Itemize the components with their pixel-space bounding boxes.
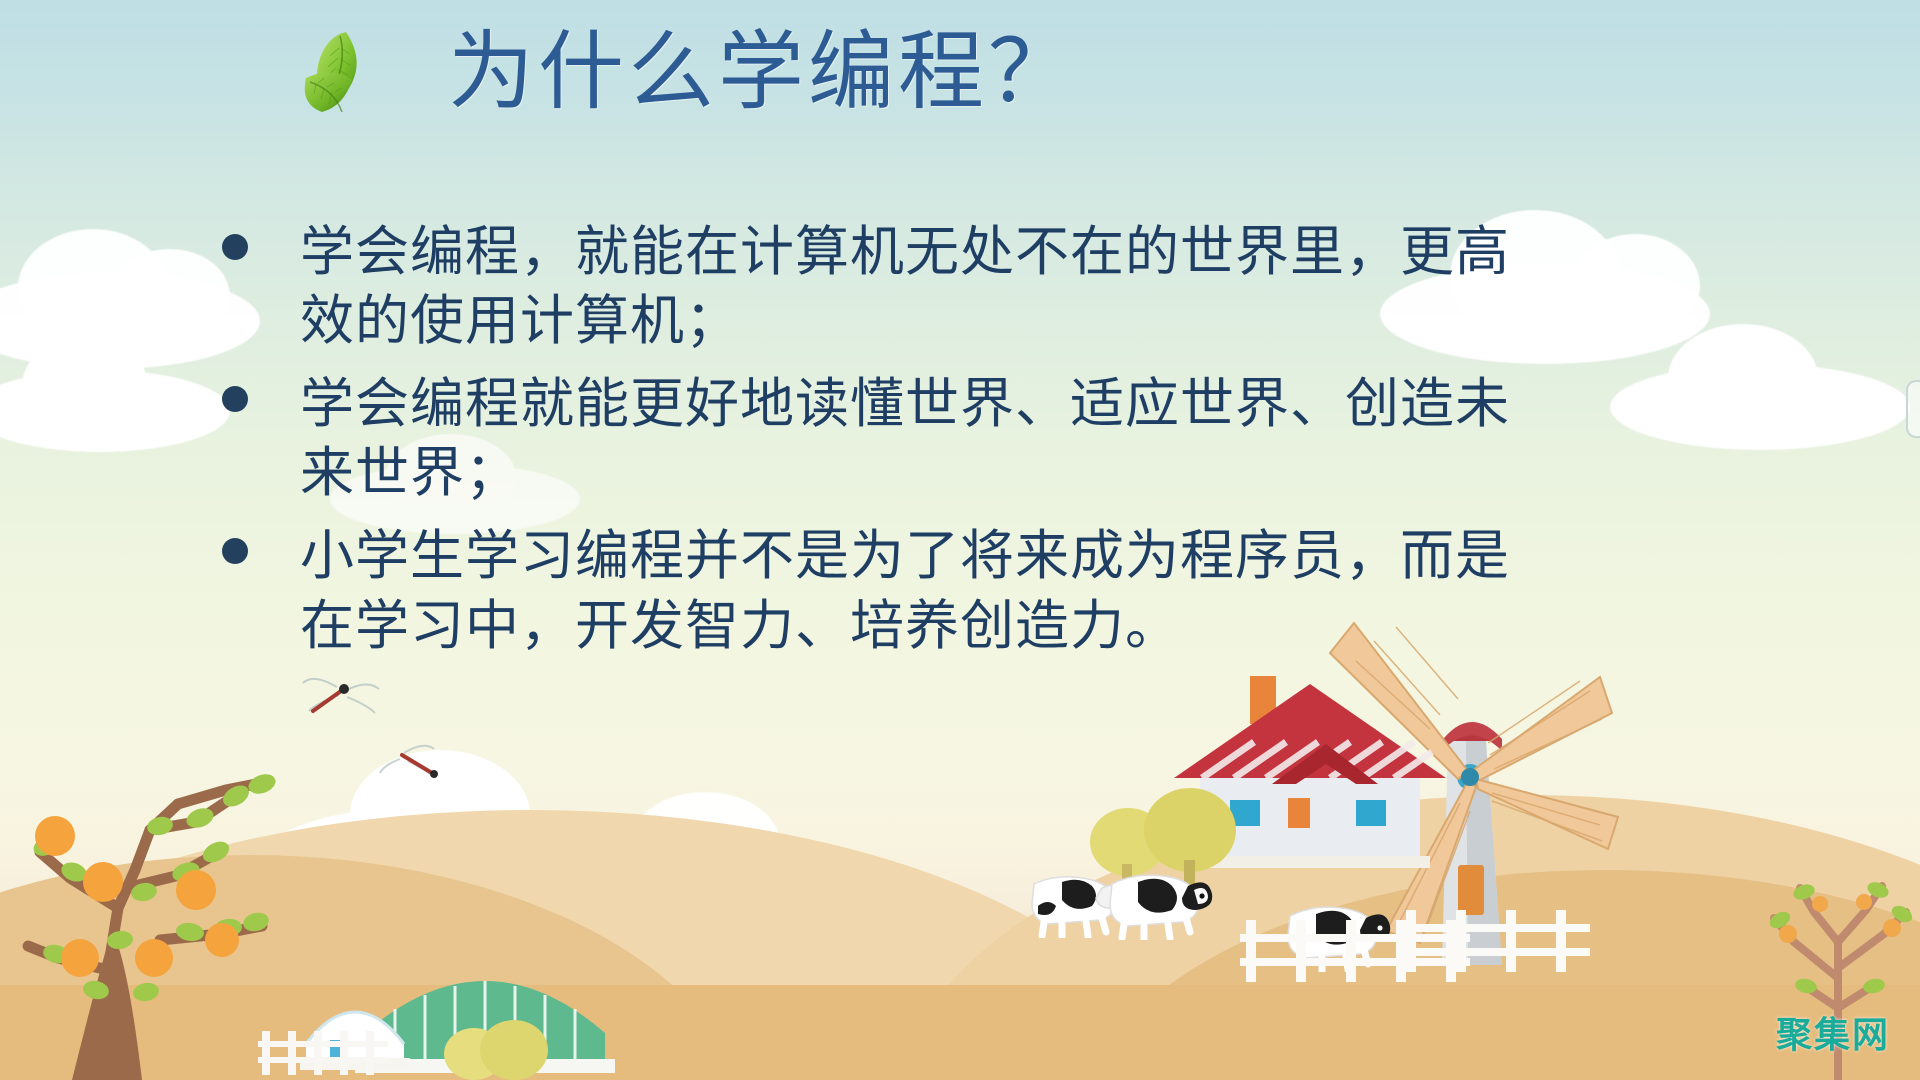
watermark: 聚集网	[1776, 1006, 1890, 1058]
bullet-text: 学会编程，就能在计算机无处不在的世界里，更高效的使用计算机；	[300, 218, 1522, 356]
right-edge-panel-stub[interactable]	[1906, 380, 1920, 438]
cloud	[22, 336, 148, 436]
bullet-text: 学会编程就能更好地读懂世界、适应世界、创造未来世界；	[300, 370, 1522, 508]
leaf-icon	[290, 28, 386, 116]
bullet-list: 学会编程，就能在计算机无处不在的世界里，更高效的使用计算机； 学会编程就能更好地…	[222, 218, 1522, 675]
dragonfly	[378, 735, 458, 785]
slide-canvas: 为什么学编程？ 学会编程，就能在计算机无处不在的世界里，更高效的使用计算机； 学…	[0, 0, 1920, 1080]
shrub	[440, 1010, 560, 1080]
fence	[1400, 900, 1590, 980]
list-item: 学会编程就能更好地读懂世界、适应世界、创造未来世界；	[222, 370, 1522, 508]
cloud	[1570, 234, 1700, 338]
cow	[1098, 860, 1216, 940]
cloud	[110, 249, 230, 343]
bullet-marker	[222, 386, 248, 412]
bullet-text: 小学生学习编程并不是为了将来成为程序员，而是在学习中，开发智力、培养创造力。	[300, 522, 1522, 660]
bullet-marker	[222, 234, 248, 260]
bullet-marker	[222, 538, 248, 564]
title-row: 为什么学编程？	[290, 28, 1078, 116]
page-title: 为什么学编程？	[448, 29, 1078, 115]
cloud	[1668, 324, 1818, 432]
list-item: 小学生学习编程并不是为了将来成为程序员，而是在学习中，开发智力、培养创造力。	[222, 522, 1522, 660]
fence	[258, 1025, 388, 1080]
list-item: 学会编程，就能在计算机无处不在的世界里，更高效的使用计算机；	[222, 218, 1522, 356]
